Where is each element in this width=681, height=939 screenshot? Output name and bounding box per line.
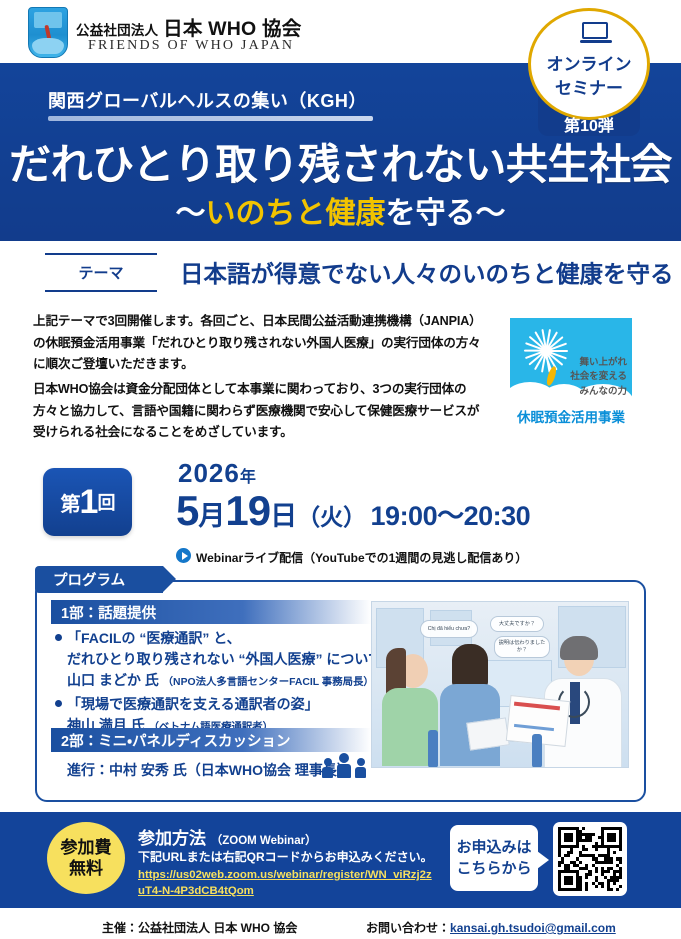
footer-host: 主催：公益社団法人 日本 WHO 協会 — [102, 919, 297, 936]
session-number-badge: 第1回 — [43, 468, 132, 536]
series-title: 関西グローバルヘルスの集い（KGH） — [48, 87, 367, 113]
subtitle-highlight: いのちと健康 — [206, 197, 386, 230]
event-year: 2026年 — [178, 458, 257, 489]
month-value: 5 — [176, 487, 198, 534]
talk-1-speaker-row: 山口 まどか 氏 （NPO法人多言語センターFACIL 事務局長） — [55, 670, 396, 691]
medical-interpretation-illustration: Chị đã hiểu chưa? 大丈夫ですか？ 説明は伝わりましたか？ — [371, 601, 629, 768]
program-talk-1: 「FACILの “医療通訳” と、 だれひとり取り残されない “外国人医療” に… — [55, 628, 396, 691]
registration-instruction: 下記URLまたは右記QRコードからお申込みください。 — [138, 848, 433, 865]
intro-paragraph-2: 日本WHO協会は資金分配団体として本事業に関わっており、3つの実行団体の方々と協… — [33, 379, 485, 444]
talk-1-line-1: 「FACILの “医療通訳” と、 — [55, 628, 396, 649]
contact-label: お問い合わせ： — [366, 921, 450, 935]
laptop-icon — [580, 22, 610, 44]
dandelion-icon: 舞い上がれ 社会を変える みんなの力 — [510, 318, 632, 404]
poster-root: 公益社団法人 日本 WHO 協会 FRIENDS OF WHO JAPAN 関西… — [0, 0, 681, 939]
day-value: 19 — [225, 487, 270, 534]
program-tag: プログラム — [35, 566, 163, 593]
page-title: だれひとり取り残されない共生社会 — [0, 131, 681, 192]
session-suffix: 回 — [97, 489, 114, 515]
badge-edition: 第10弾 — [538, 112, 640, 136]
subtitle-pre: 〜 — [176, 197, 206, 230]
talk-2-line-1: 「現場で医療通訳を支える通訳者の姿」 — [55, 694, 319, 715]
badge-line-2: セミナー — [528, 74, 650, 99]
footer-contact: お問い合わせ：kansai.gh.tsudoi@gmail.com — [366, 919, 616, 936]
dandelion-seedhead — [524, 328, 570, 374]
free-line-2: 無料 — [69, 858, 103, 879]
talk-1-affiliation: （NPO法人多言語センターFACIL 事務局長） — [163, 677, 374, 688]
slogan-line-1: 舞い上がれ — [570, 356, 627, 370]
series-underline — [48, 116, 373, 121]
free-admission-badge: 参加費 無料 — [47, 822, 125, 894]
apply-line-2: こちらから — [456, 858, 531, 879]
dormant-caption: 休眠預金活用事業 — [510, 406, 632, 426]
registration-title-text: 参加方法 — [138, 829, 206, 848]
page-subtitle: 〜いのちと健康を守る〜 — [0, 188, 681, 232]
organization-name-ja: 公益社団法人 日本 WHO 協会 — [76, 12, 301, 41]
badge-line-1: オンライン — [528, 50, 650, 75]
program-moderator: 進行：中村 安秀 氏（日本WHO協会 理事長） — [67, 760, 351, 780]
year-value: 2026 — [178, 458, 240, 488]
theme-text: 日本語が得意でない人々のいのちと健康を守る — [180, 255, 674, 289]
dormant-deposit-logo: 舞い上がれ 社会を変える みんなの力 休眠預金活用事業 — [510, 318, 632, 426]
registration-url-link[interactable]: https://us02web.zoom.us/webinar/register… — [138, 868, 438, 900]
slogan-line-3: みんなの力 — [570, 385, 627, 399]
online-seminar-badge: オンライン セミナー 第10弾 — [520, 8, 670, 138]
play-icon — [176, 548, 191, 563]
contact-email-link[interactable]: kansai.gh.tsudoi@gmail.com — [450, 921, 616, 935]
free-line-1: 参加費 — [61, 837, 112, 858]
intro-paragraph-1: 上記テーマで3回開催します。各回ごと、日本民間公益活動連携機構（JANPIA）の… — [33, 311, 485, 376]
people-group-icon — [322, 758, 370, 778]
program-part2-label: 2部：ミニ・パネルディスカッション — [51, 728, 371, 752]
who-friends-logo-icon — [28, 7, 68, 58]
bullet-icon — [55, 700, 62, 707]
apply-line-1: お申込みは — [456, 837, 531, 858]
speech-bubble-japanese-1: 大丈夫ですか？ — [490, 616, 544, 632]
day-unit: 日 — [270, 501, 297, 531]
talk-1-speaker: 山口 まどか 氏 — [67, 672, 159, 688]
registration-title: 参加方法 （ZOOM Webinar） — [138, 824, 317, 849]
bullet-icon — [55, 634, 62, 641]
apply-here-callout[interactable]: お申込みは こちらから — [450, 825, 538, 891]
year-unit: 年 — [240, 469, 257, 486]
program-part1-label: 1部：話題提供 — [51, 600, 371, 624]
theme-row: テーマ 日本語が得意でない人々のいのちと健康を守る — [0, 247, 681, 299]
slogan-line-2: 社会を変える — [570, 370, 627, 384]
qr-code-icon[interactable] — [553, 822, 627, 896]
speech-bubble-vietnamese: Chị đã hiểu chưa? — [420, 620, 478, 638]
event-date: 5月19日（火） 19:00〜20:30 — [176, 487, 530, 535]
registration-platform: （ZOOM Webinar） — [211, 835, 317, 847]
org-name: 日本 WHO 協会 — [163, 18, 301, 40]
session-prefix: 第 — [61, 488, 80, 517]
talk-1-line-2: だれひとり取り残されない “外国人医療” について」 — [55, 649, 396, 670]
org-prefix: 公益社団法人 — [76, 23, 158, 38]
theme-tag: テーマ — [45, 253, 157, 292]
organization-name-en: FRIENDS OF WHO JAPAN — [88, 38, 294, 54]
session-number: 1 — [80, 485, 98, 519]
subtitle-post: を守る〜 — [386, 197, 506, 230]
event-time: 19:00〜20:30 — [371, 501, 531, 531]
month-unit: 月 — [198, 501, 225, 531]
weekday: （火） — [297, 504, 366, 530]
speech-bubble-japanese-2: 説明は伝わりましたか？ — [494, 636, 550, 658]
delivery-note: Webinarライブ配信（YouTubeでの1週間の見逃し配信あり） — [196, 549, 527, 566]
dormant-slogan: 舞い上がれ 社会を変える みんなの力 — [570, 356, 627, 399]
